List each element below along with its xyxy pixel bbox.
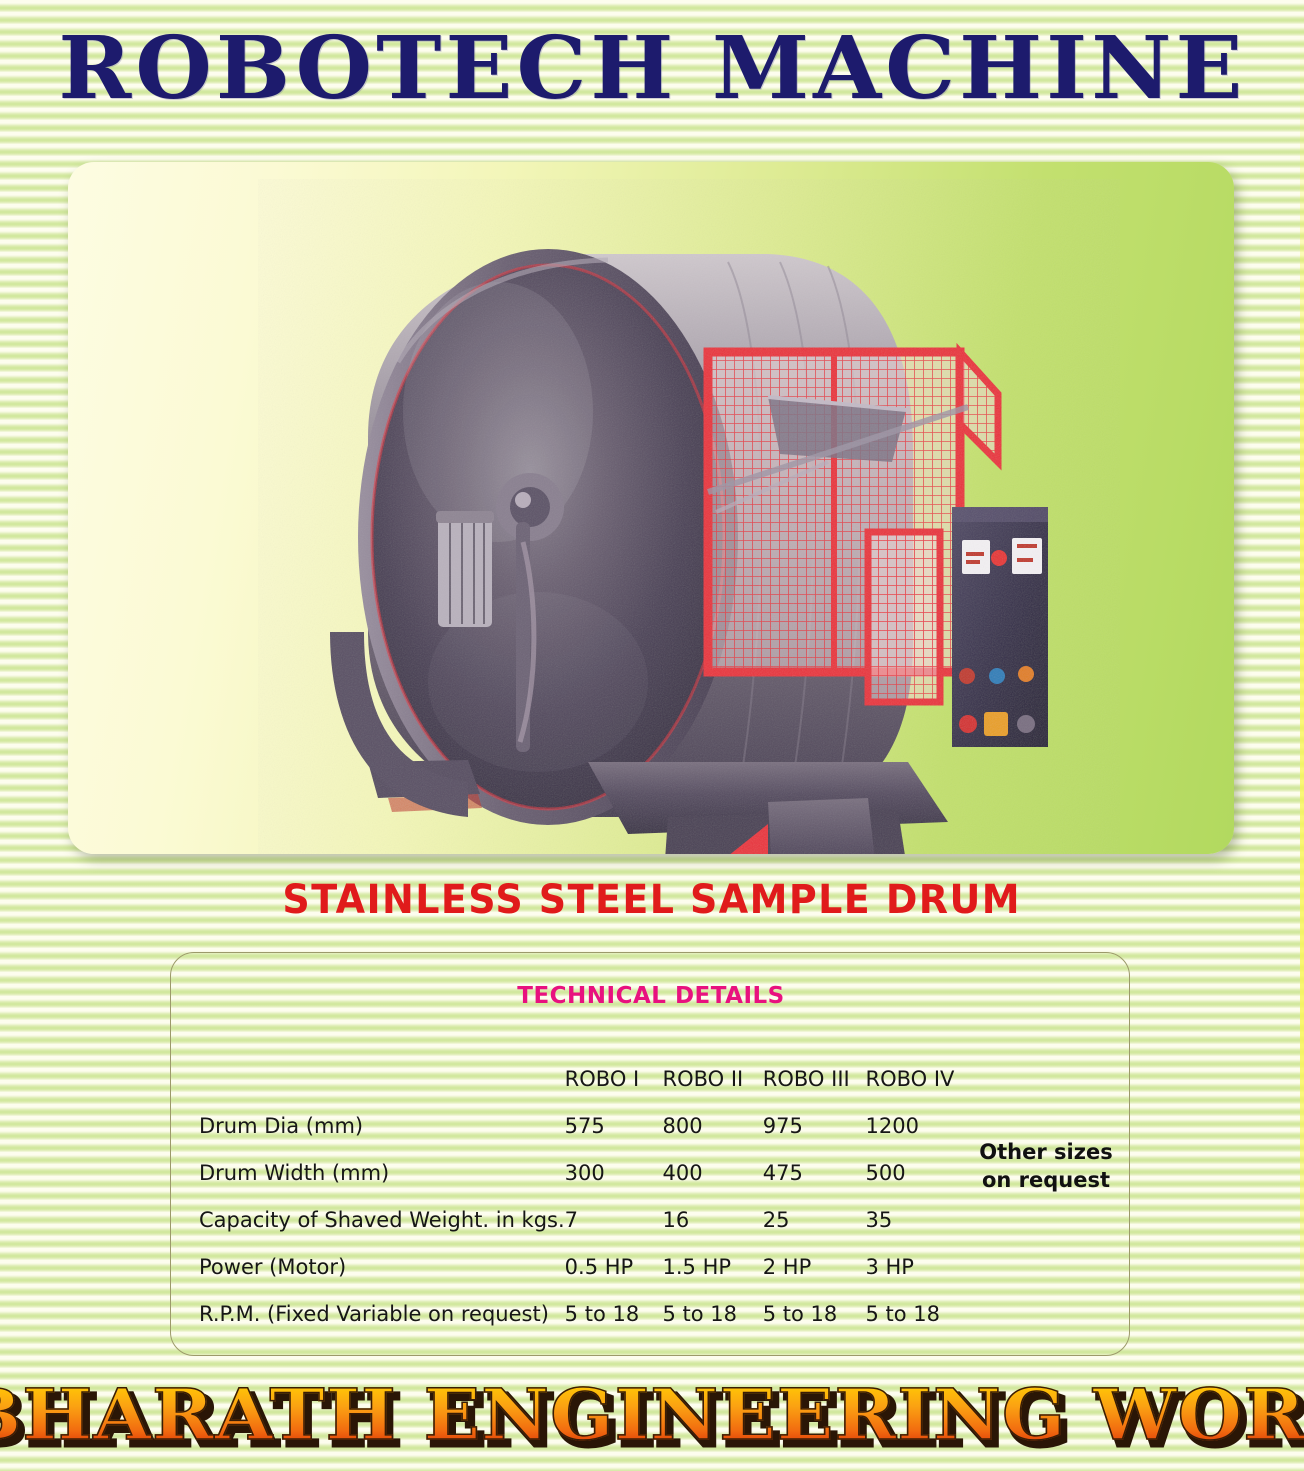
other-sizes-note-line1: Other sizes: [971, 1138, 1121, 1166]
spec-value: 0.5 HP: [565, 1232, 663, 1279]
spec-value: 800: [663, 1091, 763, 1138]
spec-value: 7: [565, 1185, 663, 1232]
product-photo-panel: [68, 162, 1234, 854]
page-title: ROBOTECH MACHINE: [58, 26, 1246, 112]
table-header-row: ROBO I ROBO II ROBO III ROBO IV: [199, 1039, 969, 1091]
footer: BHARATH ENGINEERING WORKS BHARATH ENGINE…: [0, 1378, 1304, 1452]
table-row: R.P.M. (Fixed Variable on request) 5 to …: [199, 1279, 969, 1326]
column-header-robo-1: ROBO I: [565, 1039, 663, 1091]
table-row: Power (Motor) 0.5 HP 1.5 HP 2 HP 3 HP: [199, 1232, 969, 1279]
spec-value: 400: [663, 1138, 763, 1185]
spec-value: 5 to 18: [763, 1279, 866, 1326]
spec-value: 300: [565, 1138, 663, 1185]
header: ROBOTECH MACHINE: [0, 26, 1304, 112]
sample-drum-machine-illustration: [68, 162, 1234, 854]
spec-value: 16: [663, 1185, 763, 1232]
technical-details-panel: TECHNICAL DETAILS ROBO I ROBO II ROBO II…: [170, 952, 1130, 1356]
spec-label: Drum Dia (mm): [199, 1091, 565, 1138]
spec-label: R.P.M. (Fixed Variable on request): [199, 1279, 565, 1326]
column-header-robo-2: ROBO II: [663, 1039, 763, 1091]
spec-label: Capacity of Shaved Weight. in kgs.: [199, 1185, 565, 1232]
footer-company-name: BHARATH ENGINEERING WORKS: [0, 1373, 1304, 1456]
product-photo: [68, 162, 1234, 854]
spec-value: 2 HP: [763, 1232, 866, 1279]
technical-details-table: ROBO I ROBO II ROBO III ROBO IV Drum Dia…: [199, 1039, 969, 1326]
spec-value: 5 to 18: [565, 1279, 663, 1326]
spec-value: 575: [565, 1091, 663, 1138]
footer-company-banner: BHARATH ENGINEERING WORKS BHARATH ENGINE…: [0, 1378, 1304, 1452]
other-sizes-note: Other sizes on request: [971, 1138, 1121, 1195]
spec-value: 975: [763, 1091, 866, 1138]
spec-value: 1200: [865, 1091, 969, 1138]
spec-value: 3 HP: [865, 1232, 969, 1279]
other-sizes-note-line2: on request: [971, 1166, 1121, 1194]
technical-details-title: TECHNICAL DETAILS: [171, 983, 1131, 1009]
spec-value: 1.5 HP: [663, 1232, 763, 1279]
spec-value: 475: [763, 1138, 866, 1185]
product-caption-row: STAINLESS STEEL SAMPLE DRUM: [0, 877, 1304, 923]
spec-value: 5 to 18: [865, 1279, 969, 1326]
table-row: Drum Width (mm) 300 400 475 500: [199, 1138, 969, 1185]
spec-value: 500: [865, 1138, 969, 1185]
spec-label: Power (Motor): [199, 1232, 565, 1279]
brochure-page: ROBOTECH MACHINE: [0, 0, 1304, 1471]
right-edge-artifact: [1300, 0, 1304, 1471]
spec-value: 5 to 18: [663, 1279, 763, 1326]
spec-value: 25: [763, 1185, 866, 1232]
table-row: Drum Dia (mm) 575 800 975 1200: [199, 1091, 969, 1138]
table-row: Capacity of Shaved Weight. in kgs. 7 16 …: [199, 1185, 969, 1232]
spec-label: Drum Width (mm): [199, 1138, 565, 1185]
column-header-spec: [199, 1039, 565, 1091]
spec-value: 35: [865, 1185, 969, 1232]
column-header-robo-4: ROBO IV: [865, 1039, 969, 1091]
column-header-robo-3: ROBO III: [763, 1039, 866, 1091]
product-caption: STAINLESS STEEL SAMPLE DRUM: [283, 877, 1022, 923]
